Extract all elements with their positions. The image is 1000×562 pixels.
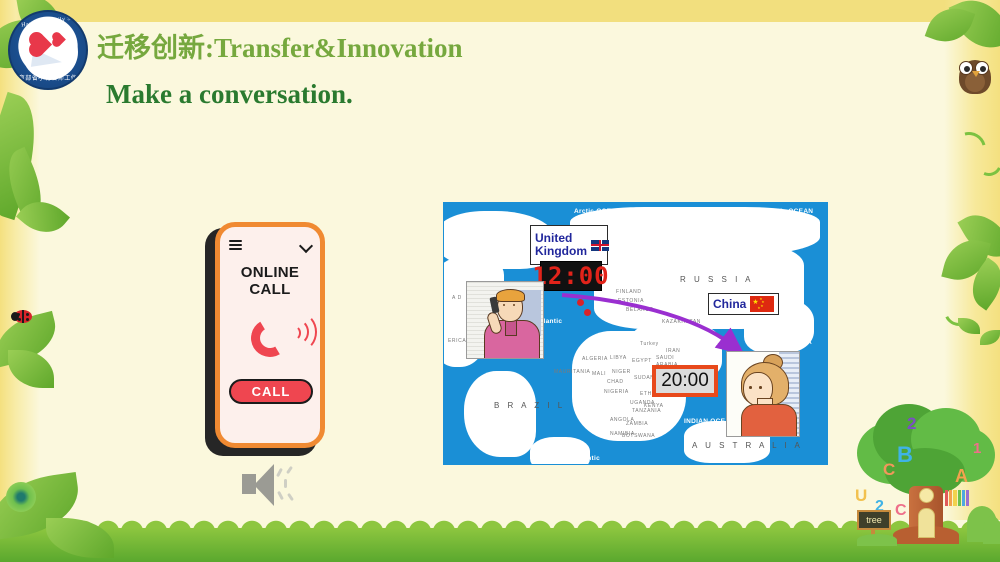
phone-heading-line2: CALL xyxy=(229,282,311,299)
world-map: Arctic OCEAN Arctic OCEAN Atlantic North… xyxy=(443,202,828,465)
map-pin-uk xyxy=(577,299,584,306)
country-label: MALI xyxy=(592,371,606,377)
ocean-label: South Atlantic xyxy=(552,455,600,462)
phone-screen: ONLINE CALL CALL xyxy=(220,227,320,443)
ocean-label: North xyxy=(792,330,811,337)
country-label: Turkey xyxy=(640,341,659,347)
tree-letter: A xyxy=(955,466,968,487)
tree-letter: C xyxy=(895,502,907,520)
landmass xyxy=(464,371,536,457)
country-label: CHAD xyxy=(607,379,624,385)
tree-sign: tree xyxy=(857,510,891,530)
country-label: ALGERIA xyxy=(582,356,608,362)
country-label: TANZANIA xyxy=(632,408,661,414)
china-clock-time: 20:00 xyxy=(661,370,709,392)
page-title: 迁移创新:Transfer&Innovation xyxy=(97,26,463,65)
uk-flag-icon xyxy=(591,240,609,251)
country-label: ERICA xyxy=(448,338,466,344)
country-label: EGYPT xyxy=(632,358,652,364)
china-flag-icon: ★ ★ ★ ★ ★ xyxy=(750,296,774,312)
map-tag-label: UnitedKingdom xyxy=(535,232,587,257)
owl-icon xyxy=(955,52,995,94)
hamburger-icon[interactable] xyxy=(229,240,242,250)
bookshelf-icon xyxy=(945,490,969,506)
region-label-australia: A U S T R A L I A xyxy=(692,441,803,450)
tree-letter: U xyxy=(855,486,867,506)
country-label: NIGER xyxy=(612,369,631,375)
school-logo: Happily Crazily Successfully 教育部省小特名师工作室 xyxy=(8,10,88,90)
ocean-label: INDIAN OCE xyxy=(684,418,725,425)
phone-frame: ONLINE CALL CALL xyxy=(215,222,325,448)
ocean-label: Arctic OCEAN xyxy=(766,208,813,215)
logo-subtitle: 教育部省小特名师工作室 xyxy=(10,73,86,82)
country-label: FINLAND xyxy=(616,289,642,295)
country-label: A D xyxy=(452,295,462,301)
map-tag-china: China ★ ★ ★ ★ ★ xyxy=(708,293,779,315)
ocean-label: Arctic OCEAN xyxy=(574,208,621,215)
uk-clock: 12:00 xyxy=(540,261,602,291)
speaker-volume-icon[interactable] xyxy=(240,462,302,510)
phone-heading: ONLINE CALL xyxy=(229,265,311,299)
slide-root: Happily Crazily Successfully 教育部省小特名师工作室… xyxy=(0,0,1000,562)
chevron-down-icon[interactable] xyxy=(300,240,311,251)
china-clock: 20:00 xyxy=(652,365,718,397)
ocean-label: OCEA xyxy=(792,339,812,346)
region-label-brazil: B R A Z I L xyxy=(494,401,565,410)
girl-listening-photo xyxy=(726,351,800,437)
page-subtitle: Make a conversation. xyxy=(106,79,353,110)
country-label: BOTSWANA xyxy=(622,433,655,439)
tree-house-illustration: 2BCA1U2C tree xyxy=(855,398,1000,543)
tree-letter: B xyxy=(897,442,913,468)
tree-letter: C xyxy=(883,460,895,480)
map-tag-united-kingdom: UnitedKingdom xyxy=(530,225,608,265)
country-label: LIBYA xyxy=(610,355,627,361)
country-label: IRAN xyxy=(666,348,680,354)
ladybug-icon xyxy=(14,310,32,323)
country-label: MAURITANIA xyxy=(554,369,590,375)
map-tag-label: China xyxy=(713,298,746,311)
snail-icon xyxy=(6,482,36,512)
country-label: ESTONIA xyxy=(618,298,644,304)
phone-mockup: ONLINE CALL CALL xyxy=(205,222,325,456)
phone-heading-line1: ONLINE xyxy=(229,265,311,282)
ringing-handset-icon xyxy=(229,305,311,373)
tree-letter: 2 xyxy=(907,414,916,434)
man-on-phone-photo xyxy=(466,281,544,359)
country-label: SAUDI xyxy=(656,355,674,361)
country-label: BELARUS xyxy=(626,307,654,313)
region-label-russia: R U S S I A xyxy=(680,275,753,284)
bottom-green-band xyxy=(0,528,1000,562)
call-button[interactable]: CALL xyxy=(229,379,313,404)
map-pin-uk2 xyxy=(584,309,591,316)
tree-letter: 1 xyxy=(973,440,981,457)
country-label: KAZAKHSTAN xyxy=(662,319,701,325)
country-label: ZAMBIA xyxy=(626,421,648,427)
country-label: NIGERIA xyxy=(604,389,629,395)
